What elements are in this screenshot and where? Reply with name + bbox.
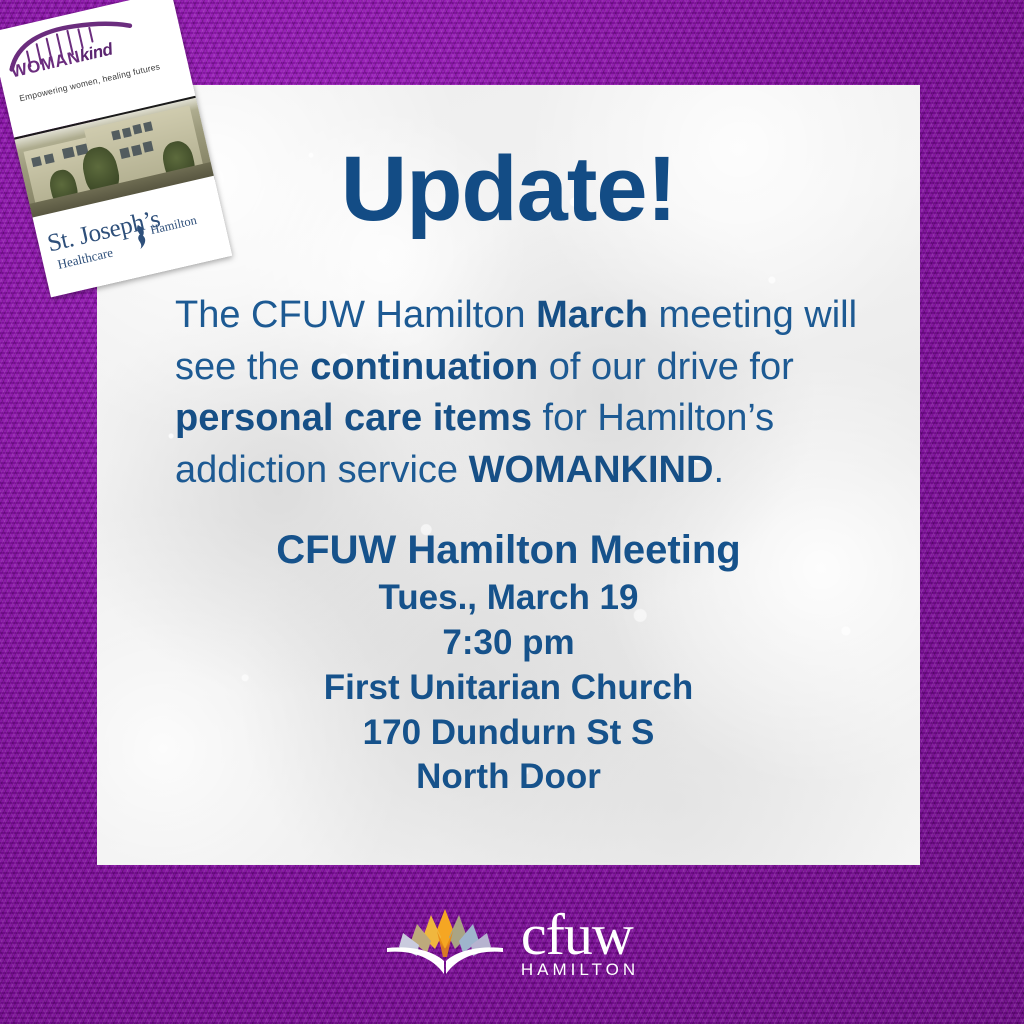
body-segment-3: of our drive for [538,346,794,388]
announcement-paragraph: The CFUW Hamilton March meeting will see… [175,290,895,497]
body-bold-personal-care-items: personal care items [175,397,532,439]
cfuw-book-icon [385,905,505,981]
window [132,124,142,135]
window [119,147,130,159]
poster-canvas: Update! The CFUW Hamilton March meeting … [0,0,1024,1024]
body-bold-continuation: continuation [310,346,538,388]
window [122,127,132,138]
window [143,121,153,132]
body-segment-1: The CFUW Hamilton [175,294,536,336]
window [111,130,121,141]
meeting-date: Tues., March 19 [97,576,920,621]
window [143,141,154,153]
content-card: Update! The CFUW Hamilton March meeting … [97,85,920,865]
meeting-title: CFUW Hamilton Meeting [97,525,920,576]
body-bold-womankind: WOMANKIND [469,449,714,491]
cfuw-wordmark: cfuw HAMILTON [521,906,639,979]
card-content: Update! The CFUW Hamilton March meeting … [97,85,920,865]
window [131,145,142,157]
meeting-time: 7:30 pm [97,621,920,666]
meeting-venue: First Unitarian Church [97,666,920,711]
meeting-details: CFUW Hamilton Meeting Tues., March 19 7:… [97,525,920,800]
cfuw-hamilton-logo: cfuw HAMILTON [0,893,1024,993]
meeting-entrance: North Door [97,755,920,800]
body-segment-5: . [713,449,724,491]
body-bold-march: March [536,294,648,336]
cfuw-name: cfuw [521,908,639,961]
meeting-address: 170 Dundurn St S [97,711,920,756]
cfuw-city: HAMILTON [521,960,639,980]
